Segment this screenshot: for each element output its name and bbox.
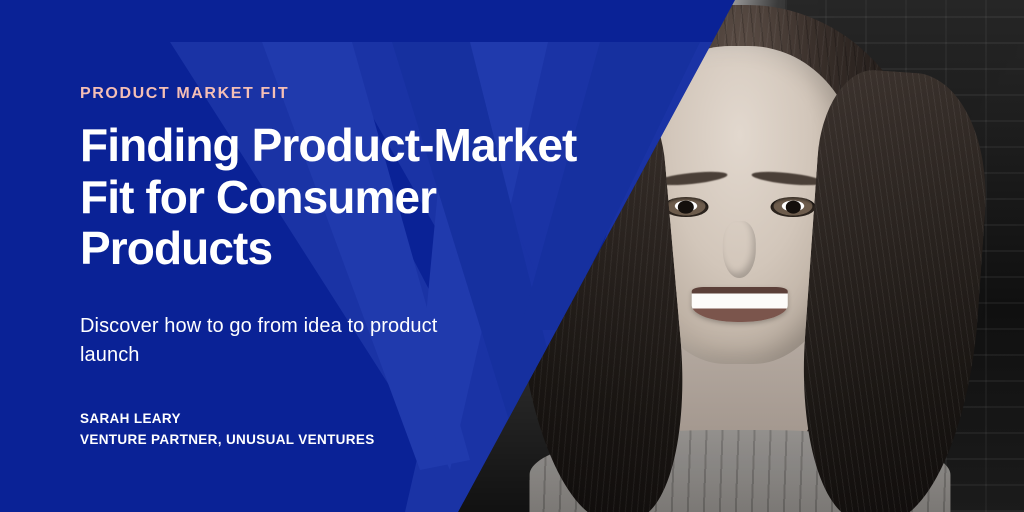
- speaker-name: SARAH LEARY: [80, 409, 375, 430]
- portrait-eye-right: [771, 197, 816, 218]
- portrait-pupil-left: [678, 201, 693, 214]
- page-title: Finding Product-Market Fit for Consumer …: [80, 120, 580, 275]
- banner-text-content: PRODUCT MARKET FIT Finding Product-Marke…: [80, 0, 580, 512]
- portrait-pupil-right: [786, 201, 801, 214]
- speaker-credit: SARAH LEARY VENTURE PARTNER, UNUSUAL VEN…: [80, 409, 375, 451]
- portrait-nose: [723, 221, 756, 278]
- webinar-promo-banner: PRODUCT MARKET FIT Finding Product-Marke…: [0, 0, 1024, 512]
- portrait-eyebrow-right: [751, 169, 823, 187]
- eyebrow-label: PRODUCT MARKET FIT: [80, 86, 289, 102]
- subtitle: Discover how to go from idea to product …: [80, 312, 480, 370]
- portrait-mouth-smile: [692, 287, 788, 322]
- portrait-eye-left: [663, 197, 708, 218]
- speaker-title: VENTURE PARTNER, UNUSUAL VENTURES: [80, 430, 375, 451]
